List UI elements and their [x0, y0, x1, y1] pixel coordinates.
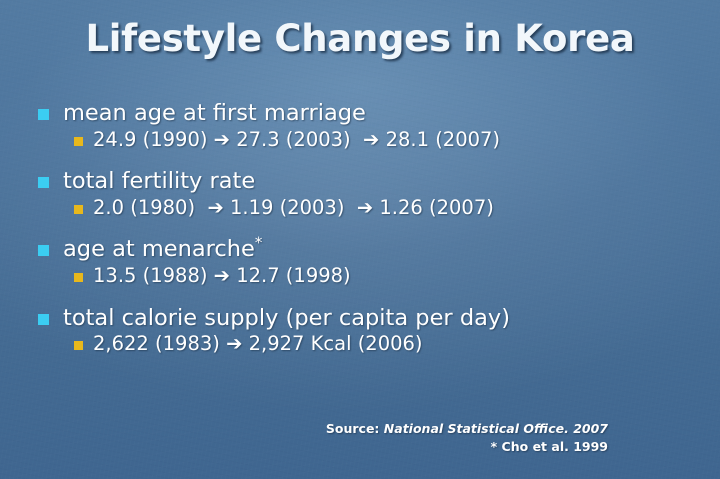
bullet-level1-label: total fertility rate — [63, 169, 255, 194]
bullet-level1-label: age at menarche — [63, 236, 255, 262]
bullet-group-menarche: age at menarche* 13.5 (1988) ➔ 12.7 (199… — [38, 237, 688, 287]
bullet-group-fertility: total fertility rate 2.0 (1980) ➔ 1.19 (… — [38, 169, 688, 219]
bullet-level1-calories: total calorie supply (per capita per day… — [38, 306, 688, 331]
bullet-level1-menarche: age at menarche* — [38, 237, 688, 262]
square-bullet-icon — [74, 205, 83, 214]
bullet-level2-menarche: 13.5 (1988) ➔ 12.7 (1998) — [74, 265, 688, 287]
bullet-level1-fertility: total fertility rate — [38, 169, 688, 194]
square-bullet-icon — [38, 245, 49, 256]
slide-body: mean age at first marriage 24.9 (1990) ➔… — [38, 101, 688, 356]
bullet-level1-label: mean age at first marriage — [63, 101, 366, 126]
page-title: Lifestyle Changes in Korea — [0, 17, 720, 60]
bullet-level2-marriage: 24.9 (1990) ➔ 27.3 (2003) ➔ 28.1 (2007) — [74, 129, 688, 151]
bullet-level2-calories: 2,622 (1983) ➔ 2,927 Kcal (2006) — [74, 333, 688, 355]
source-line-primary: Source: National Statistical Office. 200… — [326, 420, 608, 438]
bullet-level2-label: 2.0 (1980) ➔ 1.19 (2003) ➔ 1.26 (2007) — [93, 197, 494, 219]
source-label: Source: — [326, 421, 384, 436]
source-citation: Source: National Statistical Office. 200… — [326, 420, 608, 456]
bullet-level2-label: 13.5 (1988) ➔ 12.7 (1998) — [93, 265, 351, 287]
bullet-group-calories: total calorie supply (per capita per day… — [38, 306, 688, 356]
bullet-level1-marriage: mean age at first marriage — [38, 101, 688, 126]
presentation-slide: Lifestyle Changes in Korea mean age at f… — [0, 0, 720, 479]
bullet-level2-label: 2,622 (1983) ➔ 2,927 Kcal (2006) — [93, 333, 423, 355]
source-reference: National Statistical Office. 2007 — [384, 421, 608, 436]
source-line-footnote: * Cho et al. 1999 — [326, 438, 608, 456]
square-bullet-icon — [74, 137, 83, 146]
bullet-level1-label-wrapper: age at menarche* — [63, 237, 262, 262]
square-bullet-icon — [38, 109, 49, 120]
square-bullet-icon — [38, 177, 49, 188]
bullet-level2-fertility: 2.0 (1980) ➔ 1.19 (2003) ➔ 1.26 (2007) — [74, 197, 688, 219]
square-bullet-icon — [74, 273, 83, 282]
bullet-level1-label: total calorie supply (per capita per day… — [63, 306, 510, 331]
footnote-asterisk: * — [255, 234, 263, 252]
square-bullet-icon — [74, 341, 83, 350]
square-bullet-icon — [38, 314, 49, 325]
bullet-group-marriage: mean age at first marriage 24.9 (1990) ➔… — [38, 101, 688, 151]
bullet-level2-label: 24.9 (1990) ➔ 27.3 (2003) ➔ 28.1 (2007) — [93, 129, 500, 151]
